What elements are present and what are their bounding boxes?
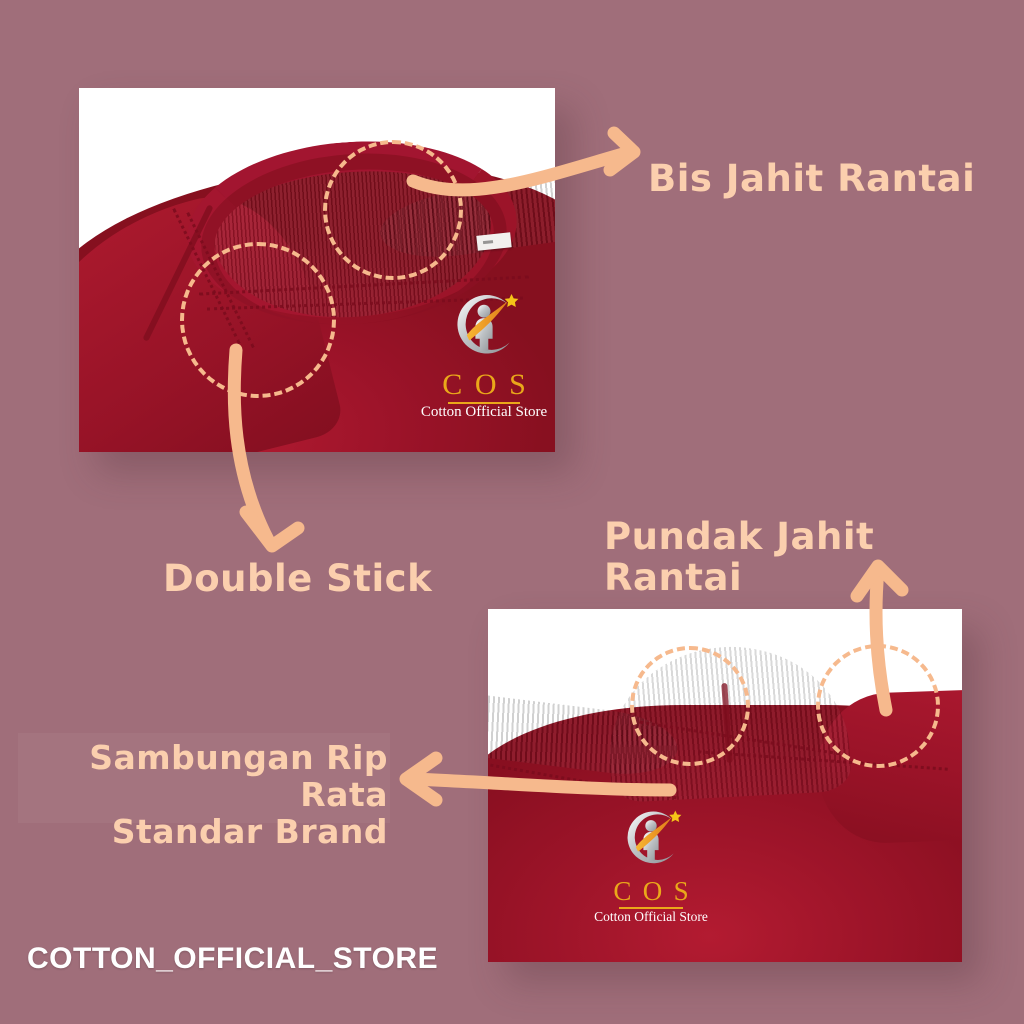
store-watermark: COTTON_OFFICIAL_STORE — [27, 942, 438, 976]
cos-emblem-icon-2 — [613, 800, 689, 876]
cos-logo-letters-2: COS — [576, 878, 726, 905]
caption-pundak-jahit-rantai: Pundak Jahit Rantai — [604, 516, 1024, 599]
caption-sambungan-rip-rata: Sambungan Rip Rata Standar Brand — [28, 740, 388, 851]
cos-logo-on-shoulder-photo: COS Cotton Official Store — [576, 800, 726, 924]
product-infographic-canvas: COS Cotton Official Store — [0, 0, 1024, 1024]
cos-emblem-icon — [441, 282, 527, 368]
cos-logo-on-collar-photo: COS Cotton Official Store — [404, 282, 555, 420]
highlight-circle-pundak — [816, 644, 940, 768]
caption-double-stick: Double Stick — [163, 558, 432, 599]
highlight-circle-double-stick — [180, 242, 336, 398]
cos-logo-letters: COS — [404, 370, 555, 400]
highlight-circle-rip-rata — [630, 646, 750, 766]
cos-logo-mark-2 — [613, 800, 689, 876]
caption-bis-jahit-rantai: Bis Jahit Rantai — [648, 158, 975, 199]
cos-logo-subtitle: Cotton Official Store — [404, 405, 555, 420]
cos-logo-mark — [441, 282, 527, 368]
highlight-circle-bis-jahit-rantai — [323, 140, 463, 280]
cos-logo-subtitle-2: Cotton Official Store — [576, 910, 726, 924]
